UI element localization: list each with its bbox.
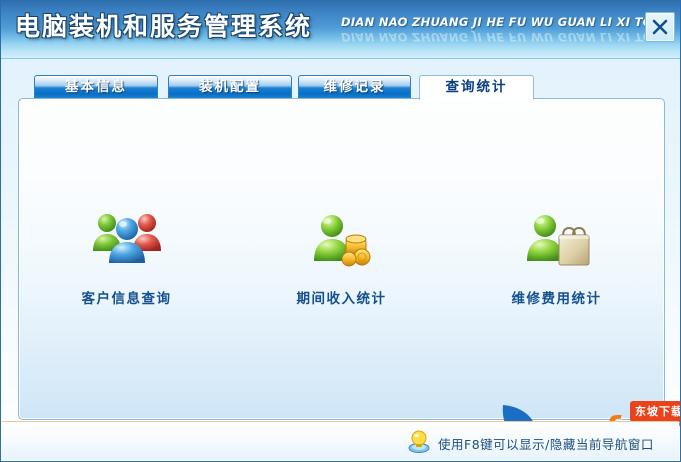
shortcut-period-income-statistics[interactable]: 期间收入统计 [234, 209, 449, 307]
tab-label: 基本信息 [65, 79, 127, 95]
tab-label: 查询统计 [446, 79, 508, 95]
tab-strip: 基本信息 装机配置 维修记录 查询统计 [1, 59, 681, 99]
shortcut-label: 维修费用统计 [449, 287, 664, 307]
tab-assembly-config[interactable]: 装机配置 [168, 75, 292, 99]
app-subtitle-reflection: DIAN NAO ZHUANG JI HE FU WU GUAN LI XI T… [341, 30, 672, 44]
application-window: 电脑装机和服务管理系统 电脑装机和服务管理系统 DIAN NAO ZHUANG … [0, 0, 681, 462]
shortcut-label: 期间收入统计 [234, 287, 449, 307]
lightbulb-icon [406, 428, 432, 458]
content-panel: 客户信息查询 [18, 98, 665, 420]
title-bar: 电脑装机和服务管理系统 电脑装机和服务管理系统 DIAN NAO ZHUANG … [1, 1, 681, 59]
tab-query-statistics[interactable]: 查询统计 [419, 75, 534, 100]
tab-basic-info[interactable]: 基本信息 [34, 75, 158, 99]
status-bar: 使用F8键可以显示/隐藏当前导航窗口 [2, 421, 679, 460]
status-hint-text: 使用F8键可以显示/隐藏当前导航窗口 [438, 434, 654, 453]
shortcut-grid: 客户信息查询 [19, 209, 664, 307]
app-title: 电脑装机和服务管理系统 [15, 7, 312, 43]
shortcut-customer-info-query[interactable]: 客户信息查询 [19, 209, 234, 307]
tab-label: 维修记录 [324, 79, 386, 95]
status-hint: 使用F8键可以显示/隐藏当前导航窗口 [406, 428, 654, 458]
three-users-icon [19, 209, 234, 273]
tab-label: 装机配置 [199, 79, 261, 95]
shortcut-repair-cost-statistics[interactable]: 维修费用统计 [449, 209, 664, 307]
app-subtitle: DIAN NAO ZHUANG JI HE FU WU GUAN LI XI T… [341, 15, 672, 29]
close-icon [646, 17, 674, 37]
user-with-shopping-bag-icon [449, 209, 664, 273]
close-button[interactable] [645, 12, 675, 42]
shortcut-label: 客户信息查询 [19, 287, 234, 307]
user-with-coins-icon [234, 209, 449, 273]
tab-repair-records[interactable]: 维修记录 [298, 75, 411, 99]
